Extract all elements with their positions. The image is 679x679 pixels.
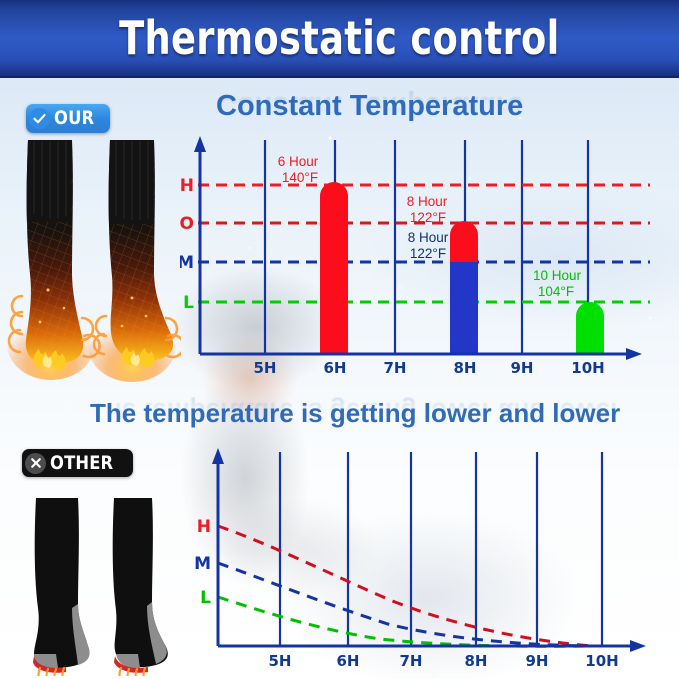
bar-8h-label2-line2: 122°F (410, 246, 446, 261)
x-tick-10h: 10H (571, 359, 604, 377)
bar-10h (576, 302, 604, 354)
y-tick-l: L (183, 293, 194, 313)
bar-6h (320, 182, 348, 354)
infographic-page: Thermostatic control OUR OTHER (0, 0, 679, 679)
x-axis-arrow (626, 348, 642, 360)
x-tick-7h: 7H (384, 359, 407, 377)
x-tick-8h: 8H (465, 652, 488, 670)
x-tick-7h: 7H (400, 652, 423, 670)
header-banner: Thermostatic control (0, 0, 679, 78)
x-axis-arrow (630, 640, 646, 652)
y-tick-l: L (200, 588, 211, 608)
x-tick-6h: 6H (337, 652, 360, 670)
x-tick-5h: 5H (254, 359, 277, 377)
x-icon (25, 453, 46, 474)
bar-10h-label-line1: 10 Hour (533, 268, 582, 283)
badge-our: OUR (26, 104, 110, 133)
bar-8h-upper (450, 221, 478, 262)
x-tick-6h: 6H (324, 359, 347, 377)
temperature-decline-chart: H M L 5H 6H 7H 8H 9H 10H (180, 440, 679, 679)
bar-8h-label-line1: 8 Hour (407, 194, 448, 209)
x-tick-5h: 5H (269, 652, 292, 670)
x-tick-10h: 10H (585, 652, 618, 670)
bar-6h-label-line2: 140°F (282, 170, 318, 185)
chart-gridlines (280, 452, 602, 646)
constant-temperature-chart: H AUTO M L 5H 6H 7H 8H 9H 10H 6 Hour 140… (180, 130, 679, 380)
bar-10h-label-line2: 104°F (538, 284, 574, 299)
y-tick-m: M (180, 253, 194, 273)
bar-8h-label2-line1: 8 Hour (408, 230, 449, 245)
y-tick-auto: AUTO (180, 214, 194, 234)
y-tick-h: H (197, 517, 211, 537)
x-tick-8h: 8H (454, 359, 477, 377)
x-tick-9h: 9H (526, 652, 549, 670)
y-tick-h: H (180, 176, 194, 196)
x-tick-9h: 9H (511, 359, 534, 377)
y-axis-arrow (194, 136, 206, 152)
page-title: Thermostatic control (119, 15, 560, 61)
badge-other-label: OTHER (50, 454, 113, 473)
y-tick-m: M (194, 554, 211, 574)
heated-socks-image (6, 126, 181, 386)
top-chart-heading: Constant Temperature (216, 90, 523, 122)
check-icon (29, 108, 50, 129)
y-axis-arrow (212, 448, 224, 464)
bar-8h-lower (450, 262, 478, 354)
other-socks-image (14, 486, 179, 676)
badge-our-label: OUR (54, 109, 94, 128)
bar-8h-label-line2: 122°F (410, 210, 446, 225)
bar-6h-label-line1: 6 Hour (278, 154, 319, 169)
badge-other: OTHER (22, 449, 133, 477)
bottom-chart-heading: The temperature is getting lower and low… (90, 398, 620, 428)
